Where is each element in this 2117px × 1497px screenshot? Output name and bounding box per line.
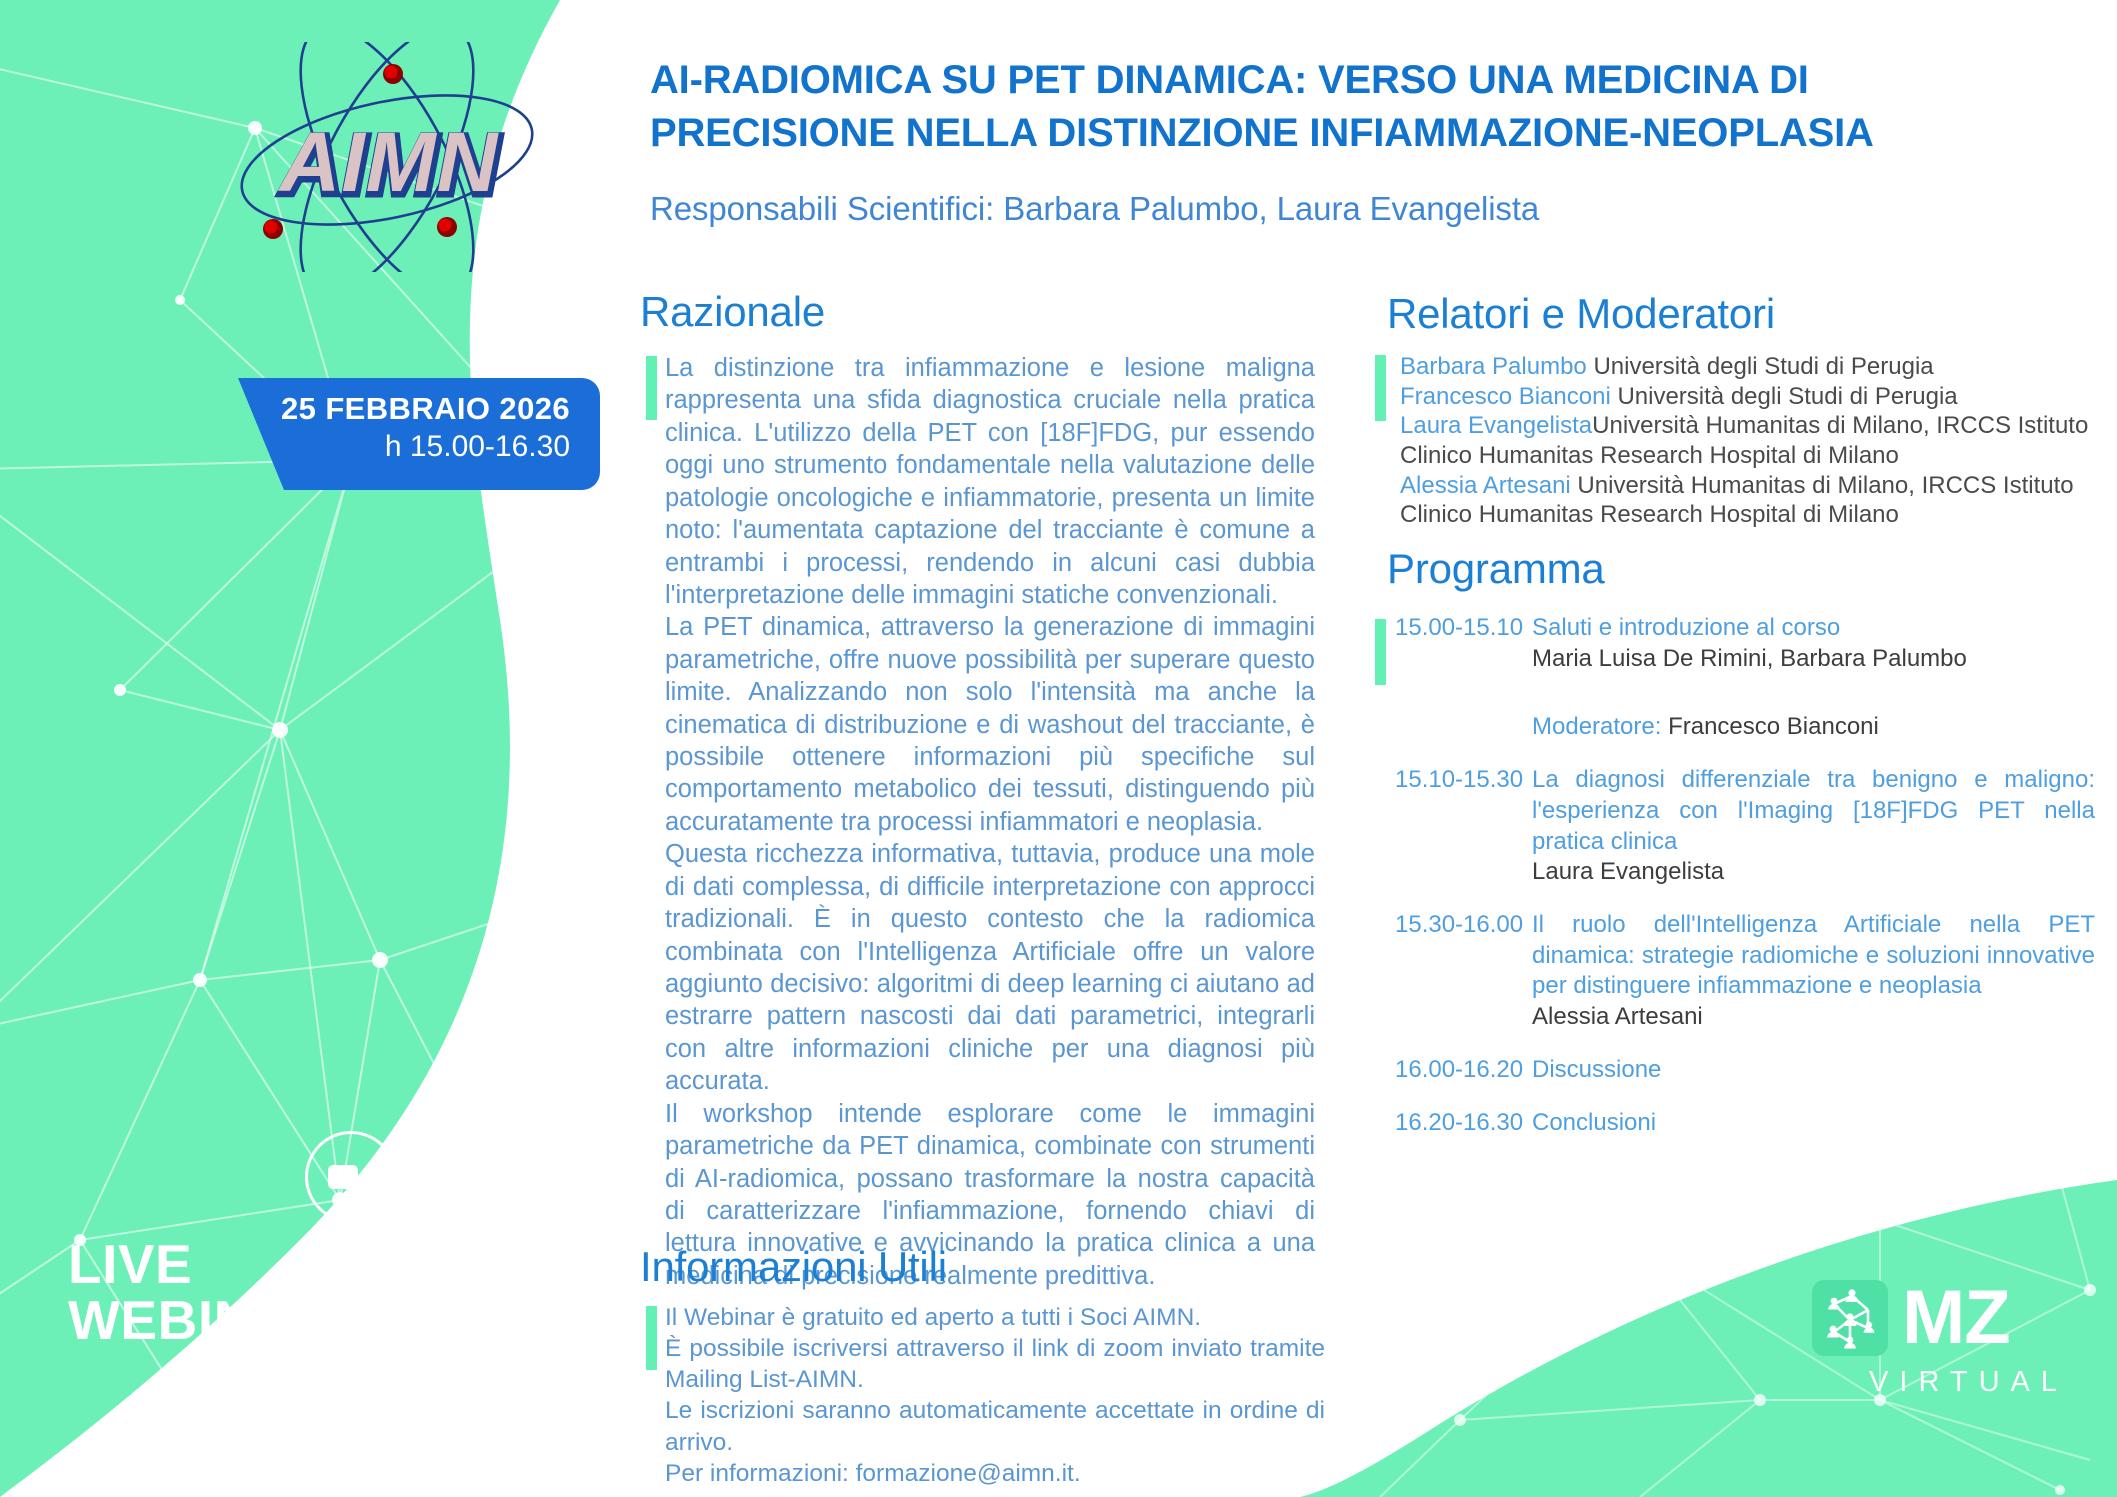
relatore-name: Barbara Palumbo bbox=[1400, 353, 1587, 380]
programma-time: 15.30-16.00 bbox=[1395, 910, 1532, 1033]
relatori-heading: Relatori e Moderatori bbox=[1387, 290, 1775, 338]
programma-item: 15.10-15.30 La diagnosi differenziale tr… bbox=[1395, 765, 2095, 888]
razionale-body: La distinzione tra infiammazione e lesio… bbox=[665, 352, 1315, 1292]
aimn-atom-logo: AIMN AIMN bbox=[215, 42, 565, 272]
relatori-list: Barbara Palumbo Università degli Studi d… bbox=[1400, 352, 2090, 530]
mz-virtual-subtitle: VIRTUAL bbox=[1812, 1366, 2072, 1399]
informazioni-body: Il Webinar è gratuito ed aperto a tutti … bbox=[665, 1302, 1325, 1489]
programma-speaker: Maria Luisa De Rimini, Barbara Palumbo bbox=[1532, 644, 2095, 675]
webinar-poster: AIMN AIMN 25 FEBBRAIO 2026 h 15.00-16.30… bbox=[0, 0, 2117, 1497]
programma-moderator: Moderatore: Francesco Bianconi bbox=[1532, 712, 2095, 743]
programma-title: Discussione bbox=[1532, 1055, 2095, 1086]
razionale-paragraph: La PET dinamica, attraverso la generazio… bbox=[665, 611, 1315, 838]
informazioni-contact-line: Per informazioni: formazione@aimn.it. bbox=[665, 1458, 1325, 1489]
razionale-accent-bar bbox=[646, 356, 657, 420]
programma-detail: La diagnosi differenziale tra benigno e … bbox=[1532, 765, 2095, 888]
webinar-label: WEBINAR bbox=[68, 1292, 334, 1348]
relatore-row: Francesco Bianconi Università degli Stud… bbox=[1400, 382, 2090, 412]
programma-item: 16.00-16.20 Discussione bbox=[1395, 1055, 2095, 1086]
event-time: h 15.00-16.30 bbox=[238, 427, 570, 467]
video-camera-icon bbox=[305, 1131, 397, 1223]
relatori-accent-bar bbox=[1375, 355, 1386, 421]
programma-title: La diagnosi differenziale tra benigno e … bbox=[1532, 765, 2095, 857]
title-line-2: PRECISIONE NELLA DISTINZIONE INFIAMMAZIO… bbox=[650, 107, 1990, 160]
mz-wordmark: MZ bbox=[1902, 1286, 2010, 1351]
relatore-affiliation: Università degli Studi di Perugia bbox=[1611, 383, 1958, 410]
relatore-name: Francesco Bianconi bbox=[1400, 383, 1611, 410]
informazioni-line: Le iscrizioni saranno automaticamente ac… bbox=[665, 1395, 1325, 1457]
programma-time: 16.00-16.20 bbox=[1395, 1055, 1532, 1086]
relatore-row: Laura EvangelistaUniversità Humanitas di… bbox=[1400, 411, 2090, 470]
programma-speaker: Alessia Artesani bbox=[1532, 1002, 2095, 1033]
relatore-affiliation: Università degli Studi di Perugia bbox=[1587, 353, 1934, 380]
programma-title: Conclusioni bbox=[1532, 1108, 2095, 1139]
page-title: AI-RADIOMICA SU PET DINAMICA: VERSO UNA … bbox=[650, 54, 1990, 160]
informazioni-line: Il Webinar è gratuito ed aperto a tutti … bbox=[665, 1302, 1325, 1333]
moderator-name: Francesco Bianconi bbox=[1668, 713, 1879, 740]
moderator-label: Moderatore: bbox=[1532, 713, 1668, 740]
event-date: 25 FEBBRAIO 2026 bbox=[238, 392, 570, 427]
relatore-name: Alessia Artesani bbox=[1400, 472, 1571, 499]
programma-item: 15.30-16.00 Il ruolo dell'Intelligenza A… bbox=[1395, 910, 2095, 1033]
live-label: LIVE bbox=[68, 1236, 334, 1292]
programma-item: 15.00-15.10 Saluti e introduzione al cor… bbox=[1395, 613, 2095, 743]
razionale-heading: Razionale bbox=[640, 288, 825, 336]
event-date-badge: 25 FEBBRAIO 2026 h 15.00-16.30 bbox=[238, 378, 600, 490]
programma-detail: Discussione bbox=[1532, 1055, 2095, 1086]
programma-item: 16.20-16.30 Conclusioni bbox=[1395, 1108, 2095, 1139]
aimn-logo: AIMN AIMN bbox=[215, 42, 565, 272]
title-line-1: AI-RADIOMICA SU PET DINAMICA: VERSO UNA … bbox=[650, 54, 1990, 107]
mz-virtual-logo: MZ VIRTUAL bbox=[1812, 1280, 2072, 1430]
relatore-row: Alessia Artesani Università Humanitas di… bbox=[1400, 471, 2090, 530]
programma-detail: Saluti e introduzione al corso Maria Lui… bbox=[1532, 613, 2095, 743]
mz-logo-row: MZ bbox=[1812, 1280, 2072, 1356]
svg-text:AIMN: AIMN bbox=[278, 115, 500, 209]
informazioni-accent-bar bbox=[646, 1306, 657, 1370]
camera-glyph bbox=[328, 1162, 374, 1192]
programma-detail: Conclusioni bbox=[1532, 1108, 2095, 1139]
aimn-wordmark: AIMN AIMN bbox=[278, 115, 502, 212]
informazioni-line: È possibile iscriversi attraverso il lin… bbox=[665, 1333, 1325, 1395]
scientific-directors: Responsabili Scientifici: Barbara Palumb… bbox=[650, 190, 1990, 228]
relatore-name: Laura Evangelista bbox=[1400, 412, 1592, 439]
people-network-icon bbox=[1812, 1280, 1888, 1356]
programma-heading: Programma bbox=[1387, 545, 1605, 593]
programma-speaker: Laura Evangelista bbox=[1532, 857, 2095, 888]
programma-title: Saluti e introduzione al corso bbox=[1532, 613, 2095, 644]
razionale-paragraph: Questa ricchezza informativa, tuttavia, … bbox=[665, 838, 1315, 1097]
programma-list: 15.00-15.10 Saluti e introduzione al cor… bbox=[1395, 613, 2095, 1160]
razionale-paragraph: La distinzione tra infiammazione e lesio… bbox=[665, 352, 1315, 611]
programma-time: 16.20-16.30 bbox=[1395, 1108, 1532, 1139]
relatore-row: Barbara Palumbo Università degli Studi d… bbox=[1400, 352, 2090, 382]
programma-time: 15.10-15.30 bbox=[1395, 765, 1532, 888]
informazioni-heading: Informazioni Utili bbox=[640, 1243, 947, 1291]
programma-accent-bar bbox=[1375, 619, 1386, 685]
programma-time: 15.00-15.10 bbox=[1395, 613, 1532, 743]
live-webinar-label: LIVE WEBINAR bbox=[68, 1236, 334, 1348]
programma-detail: Il ruolo dell'Intelligenza Artificiale n… bbox=[1532, 910, 2095, 1033]
programma-title: Il ruolo dell'Intelligenza Artificiale n… bbox=[1532, 910, 2095, 1002]
